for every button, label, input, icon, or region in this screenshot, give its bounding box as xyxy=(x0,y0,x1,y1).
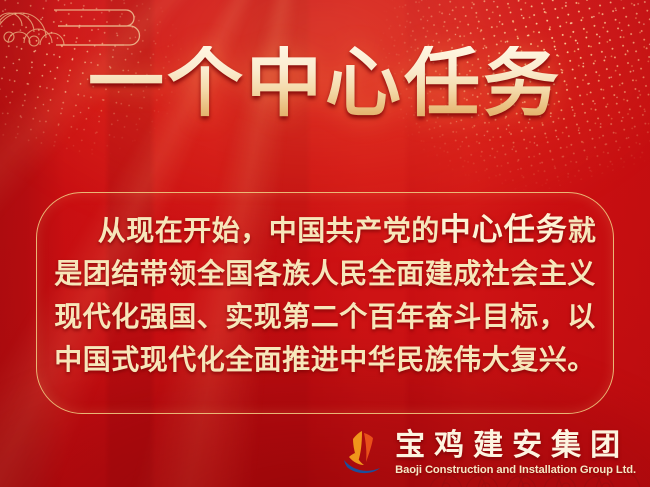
company-logo[interactable]: 宝鸡建安集团 Baoji Construction and Installati… xyxy=(342,429,636,477)
page-title: 一个中心任务 xyxy=(88,46,562,122)
sail-boat-icon xyxy=(342,429,386,477)
body-line4: 式现代化全面推进中华民族伟大复兴。 xyxy=(111,344,596,375)
body-emphasis-phrase: 中心任务 xyxy=(440,212,568,247)
company-name-en: Baoji Construction and Installation Grou… xyxy=(395,464,636,476)
poster-canvas: 一个中心任务 从现在开始，中国共产党的中心任务就是团结带领全国各族人民全面建成社… xyxy=(0,0,650,487)
company-logo-text: 宝鸡建安集团 Baoji Construction and Installati… xyxy=(395,430,636,477)
body-line1-part-b: 就 xyxy=(568,215,597,246)
body-line1-part-a: 从现在开始，中国共产党的 xyxy=(98,215,440,246)
company-name-cn: 宝鸡建安集团 xyxy=(395,430,629,462)
poster-body-text: 从现在开始，中国共产党的中心任务就是团结带领全国各族人民全面建成社会主义现代化强… xyxy=(48,208,602,381)
poster-title-area: 一个中心任务 xyxy=(0,46,650,122)
